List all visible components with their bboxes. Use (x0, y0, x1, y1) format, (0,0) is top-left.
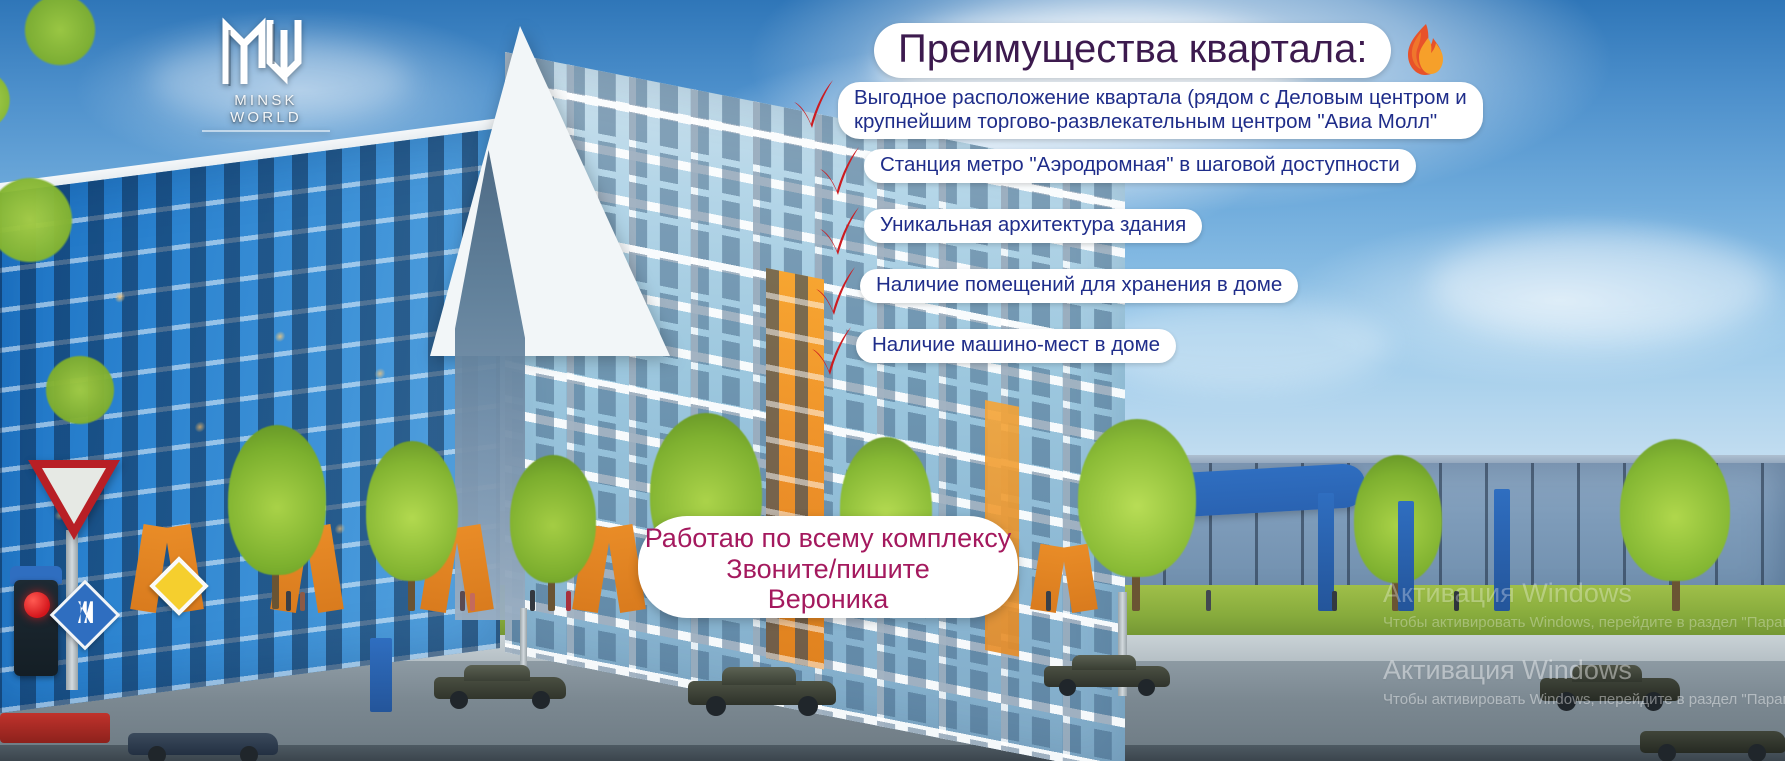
benefit-item: Станция метро "Аэродромная" в шаговой до… (816, 149, 1590, 199)
tree-canopy (1620, 439, 1730, 581)
pedestrian (1046, 591, 1051, 611)
benefit-item: Выгодное расположение квартала (рядом с … (790, 82, 1590, 139)
car (128, 721, 278, 755)
flame-icon (1401, 22, 1447, 78)
traffic-light-red-lamp (24, 592, 50, 618)
benefit-line: Наличие помещений для хранения в доме (876, 273, 1282, 297)
contact-card: Работаю по всему комплексу Звоните/пишит… (638, 516, 1018, 618)
pedestrian (566, 591, 571, 611)
yield-sign-inner (42, 468, 106, 524)
tree-canopy (1078, 419, 1196, 577)
benefits-title: Преимущества квартала: (898, 27, 1367, 71)
benefit-item: Уникальная архитектура здания (816, 209, 1590, 259)
car (434, 665, 566, 699)
pedestrian (300, 592, 305, 611)
car (688, 667, 836, 705)
car (1044, 655, 1170, 687)
benefit-item: Наличие помещений для хранения в доме (812, 269, 1590, 319)
pedestrian (1206, 590, 1211, 611)
pedestrian (286, 591, 291, 611)
street-banner (1494, 489, 1510, 611)
benefit-pill: Наличие машино-мест в доме (856, 329, 1176, 362)
tree-canopy (366, 441, 458, 581)
mw-monogram-icon (220, 12, 312, 88)
tree-canopy (228, 425, 326, 575)
contact-line-2: Звоните/пишите (726, 554, 929, 585)
pedestrian (460, 591, 465, 611)
benefit-line: Уникальная архитектура здания (880, 213, 1186, 237)
check-icon (808, 323, 854, 379)
benefit-line: Наличие машино-мест в доме (872, 333, 1160, 357)
car (1640, 721, 1785, 753)
check-icon (816, 143, 862, 199)
benefit-line: Выгодное расположение квартала (рядом с … (854, 86, 1467, 110)
benefit-pill: Наличие помещений для хранения в доме (860, 269, 1298, 302)
tree-canopy (510, 455, 596, 583)
minsk-world-logo: MINSK WORLD (196, 12, 336, 132)
check-icon (790, 76, 836, 132)
benefits-title-row: Преимущества квартала: (874, 22, 1590, 78)
logo-divider (202, 130, 330, 132)
check-icon (816, 203, 862, 259)
car (1540, 665, 1680, 701)
benefit-pill: Уникальная архитектура здания (864, 209, 1202, 242)
logo-wordmark: MINSK WORLD (196, 92, 336, 126)
check-icon (812, 263, 858, 319)
contact-line-3: Вероника (768, 584, 888, 615)
benefit-pill: Выгодное расположение квартала (рядом с … (838, 82, 1483, 139)
benefit-pill: Станция метро "Аэродромная" в шаговой до… (864, 149, 1416, 182)
pedestrian (1332, 591, 1337, 611)
car (0, 713, 110, 747)
contact-line-1: Работаю по всему комплексу (645, 523, 1012, 554)
benefits-title-pill: Преимущества квартала: (874, 23, 1391, 78)
benefit-line: Станция метро "Аэродромная" в шаговой до… (880, 153, 1400, 177)
pedestrian (530, 590, 535, 611)
pedestrian (1454, 591, 1459, 611)
benefit-line: крупнейшим торгово-развлекательным центр… (854, 110, 1467, 134)
street-banner (370, 638, 392, 712)
benefit-item: Наличие машино-мест в доме (808, 329, 1590, 379)
pedestrian (470, 593, 475, 611)
benefits-block: Преимущества квартала: Выгодное располож… (790, 22, 1590, 379)
street-banner (1398, 501, 1414, 611)
promo-image: y Planet Pl (0, 0, 1785, 761)
